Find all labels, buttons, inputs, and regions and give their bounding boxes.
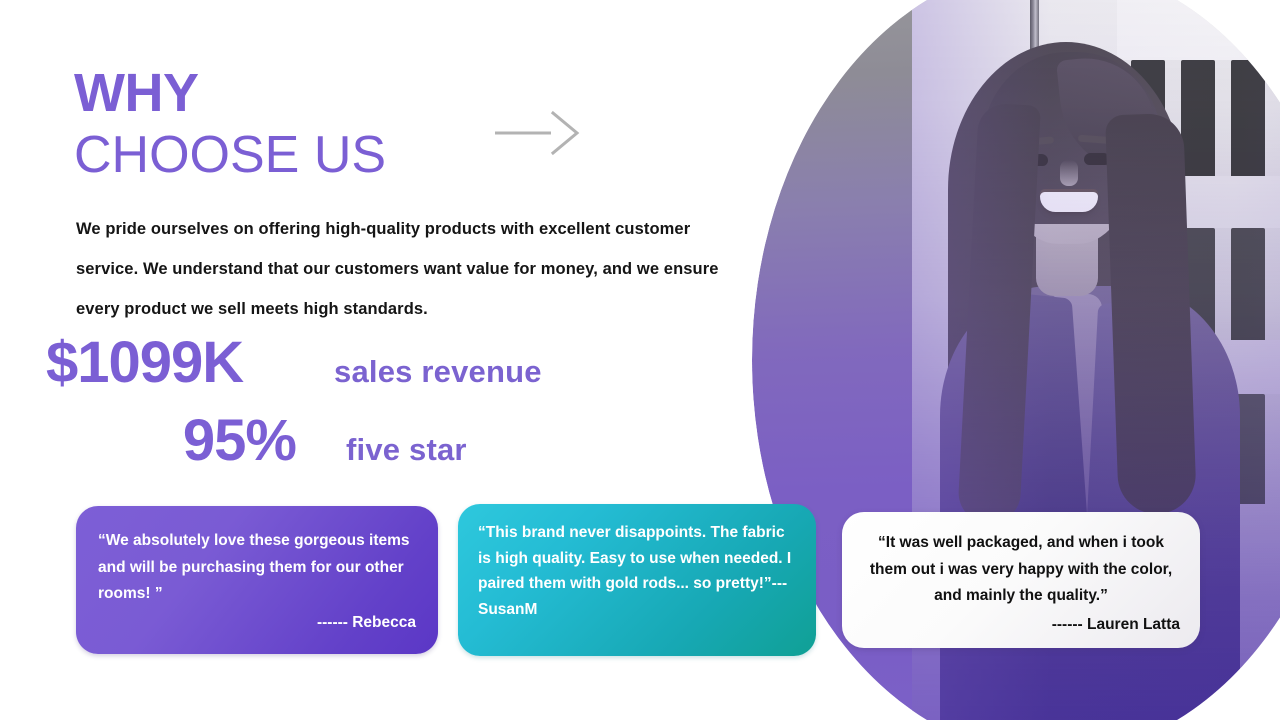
slide-root: WHY CHOOSE US We pride ourselves on offe… — [0, 0, 1280, 720]
testimonial-card-teal[interactable]: “This brand never disappoints. The fabri… — [458, 504, 816, 656]
stat-row: 95% five star — [46, 412, 666, 470]
heading-line-2: CHOOSE US — [74, 128, 386, 183]
arrow-right-icon — [493, 110, 585, 156]
testimonial-quote: “We absolutely love these gorgeous items… — [98, 532, 410, 602]
heading-line-1: WHY — [74, 66, 386, 120]
body-paragraph: We pride ourselves on offering high-qual… — [76, 210, 748, 330]
testimonial-attribution: ------ Lauren Latta — [862, 612, 1180, 639]
page-title: WHY CHOOSE US — [74, 66, 386, 183]
testimonial-quote: “This brand never disappoints. The fabri… — [478, 524, 791, 592]
stat-row: $1099K sales revenue — [46, 334, 666, 392]
testimonial-quote: “It was well packaged, and when i took t… — [862, 530, 1180, 610]
stat-label-fivestar: five star — [346, 434, 467, 465]
testimonial-attribution: SusanM — [478, 601, 537, 618]
stat-value-revenue: $1099K — [46, 334, 308, 392]
testimonial-attribution: ------ Rebecca — [98, 610, 416, 637]
testimonial-card-white[interactable]: “It was well packaged, and when i took t… — [842, 512, 1200, 648]
stats-group: $1099K sales revenue 95% five star — [46, 334, 666, 470]
stat-label-revenue: sales revenue — [334, 356, 542, 387]
stat-value-fivestar: 95% — [46, 412, 308, 470]
testimonial-card-purple[interactable]: “We absolutely love these gorgeous items… — [76, 506, 438, 654]
